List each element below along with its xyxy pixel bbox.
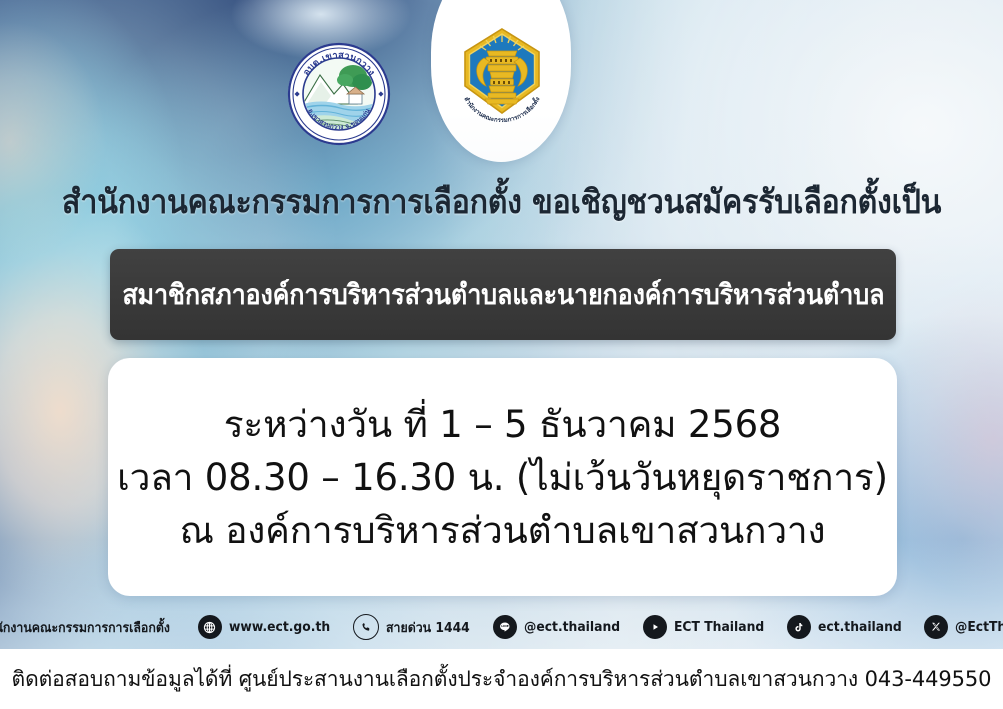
social-label-hotline: สายด่วน 1444 [386, 617, 470, 638]
position-banner: สมาชิกสภาองค์การบริหารส่วนตำบลและนายกองค… [110, 249, 896, 340]
details-card: ระหว่างวัน ที่ 1 – 5 ธันวาคม 2568 เวลา 0… [108, 358, 897, 596]
contact-strip: ติดต่อสอบถามข้อมูลได้ที่ ศูนย์ประสานงานเ… [0, 649, 1003, 709]
phone-icon [353, 614, 379, 640]
social-label-facebook: สำนักงานคณะกรรมการการเลือกตั้ง [0, 617, 170, 638]
social-item-youtube[interactable]: ECT Thailand [634, 615, 778, 639]
details-line-venue: ณ องค์การบริหารส่วนตำบลเขาสวนกวาง [180, 504, 826, 557]
social-label-tiktok: ect.thailand [818, 620, 902, 635]
svg-text:LINE: LINE [501, 624, 508, 628]
globe-icon [198, 615, 222, 639]
line-icon: LINE [493, 615, 517, 639]
ect-emblem-icon: สำนักงานคณะกรรมการการเลือกตั้ง [456, 26, 548, 130]
social-label-youtube: ECT Thailand [674, 620, 764, 635]
tiktok-icon [787, 615, 811, 639]
social-links-bar: สำนักงานคณะกรรมการการเลือกตั้ง www.ect.g… [0, 605, 1003, 649]
social-label-line: @ect.thailand [524, 620, 620, 635]
social-label-website: www.ect.go.th [229, 620, 330, 635]
page-title: สำนักงานคณะกรรมการการเลือกตั้ง ขอเชิญชวน… [40, 181, 963, 223]
details-line-date: ระหว่างวัน ที่ 1 – 5 ธันวาคม 2568 [224, 398, 782, 451]
social-item-website[interactable]: www.ect.go.th [189, 615, 344, 639]
contact-line-text: ติดต่อสอบถามข้อมูลได้ที่ ศูนย์ประสานงานเ… [12, 663, 992, 696]
x-twitter-icon [924, 615, 948, 639]
social-item-x[interactable]: @EctThailand [915, 615, 1003, 639]
social-item-tiktok[interactable]: ect.thailand [778, 615, 915, 639]
sao-khao-suan-kwang-seal-icon: อบต.เขาสวนกวาง อ.เขาสวนกวาง จ.ขอนแก่น [287, 42, 391, 146]
social-item-facebook[interactable]: สำนักงานคณะกรรมการการเลือกตั้ง [0, 615, 189, 639]
youtube-icon [643, 615, 667, 639]
poster-root: อบต.เขาสวนกวาง อ.เขาสวนกวาง จ.ขอนแก่น [0, 0, 1003, 709]
details-line-time: เวลา 08.30 – 16.30 น. (ไม่เว้นวันหยุดราช… [117, 451, 888, 504]
social-item-line[interactable]: LINE @ect.thailand [484, 615, 634, 639]
social-label-x: @EctThailand [955, 620, 1003, 635]
social-item-hotline[interactable]: สายด่วน 1444 [344, 614, 483, 640]
position-banner-text: สมาชิกสภาองค์การบริหารส่วนตำบลและนายกองค… [122, 278, 884, 312]
